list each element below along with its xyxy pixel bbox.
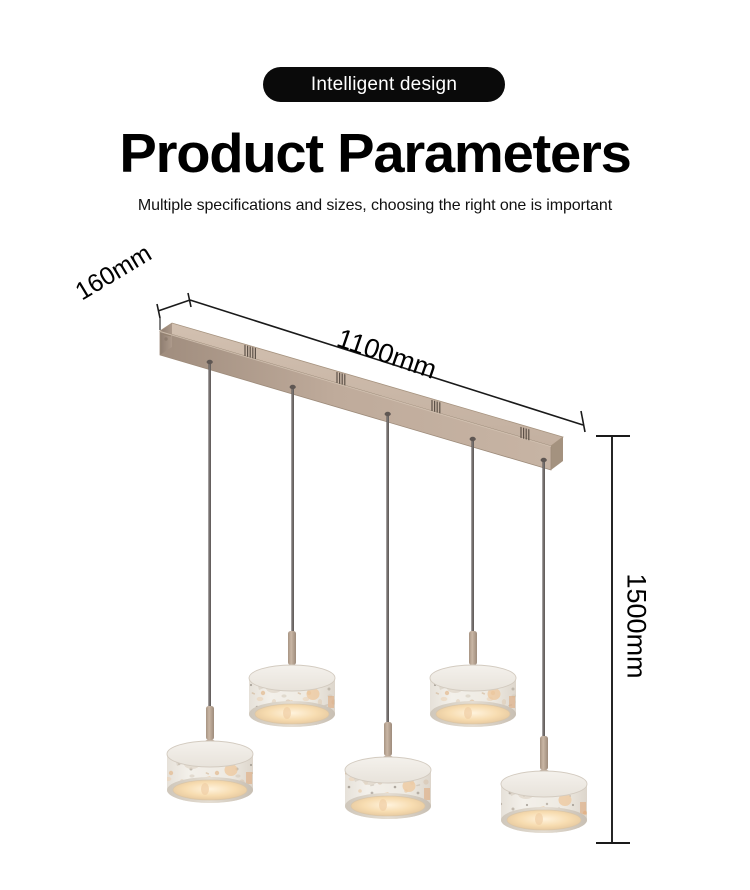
pendant-light-4 <box>430 631 516 727</box>
product-illustration <box>0 0 750 890</box>
product-spec-graphic: Intelligent design Product Parameters Mu… <box>0 0 750 890</box>
pendant-light-2 <box>249 631 335 727</box>
pendant-light-1 <box>167 706 253 803</box>
pendant-light-3 <box>345 722 431 819</box>
dimension-label-drop: 1500mm <box>623 574 650 679</box>
pendant-light-5 <box>501 736 587 833</box>
